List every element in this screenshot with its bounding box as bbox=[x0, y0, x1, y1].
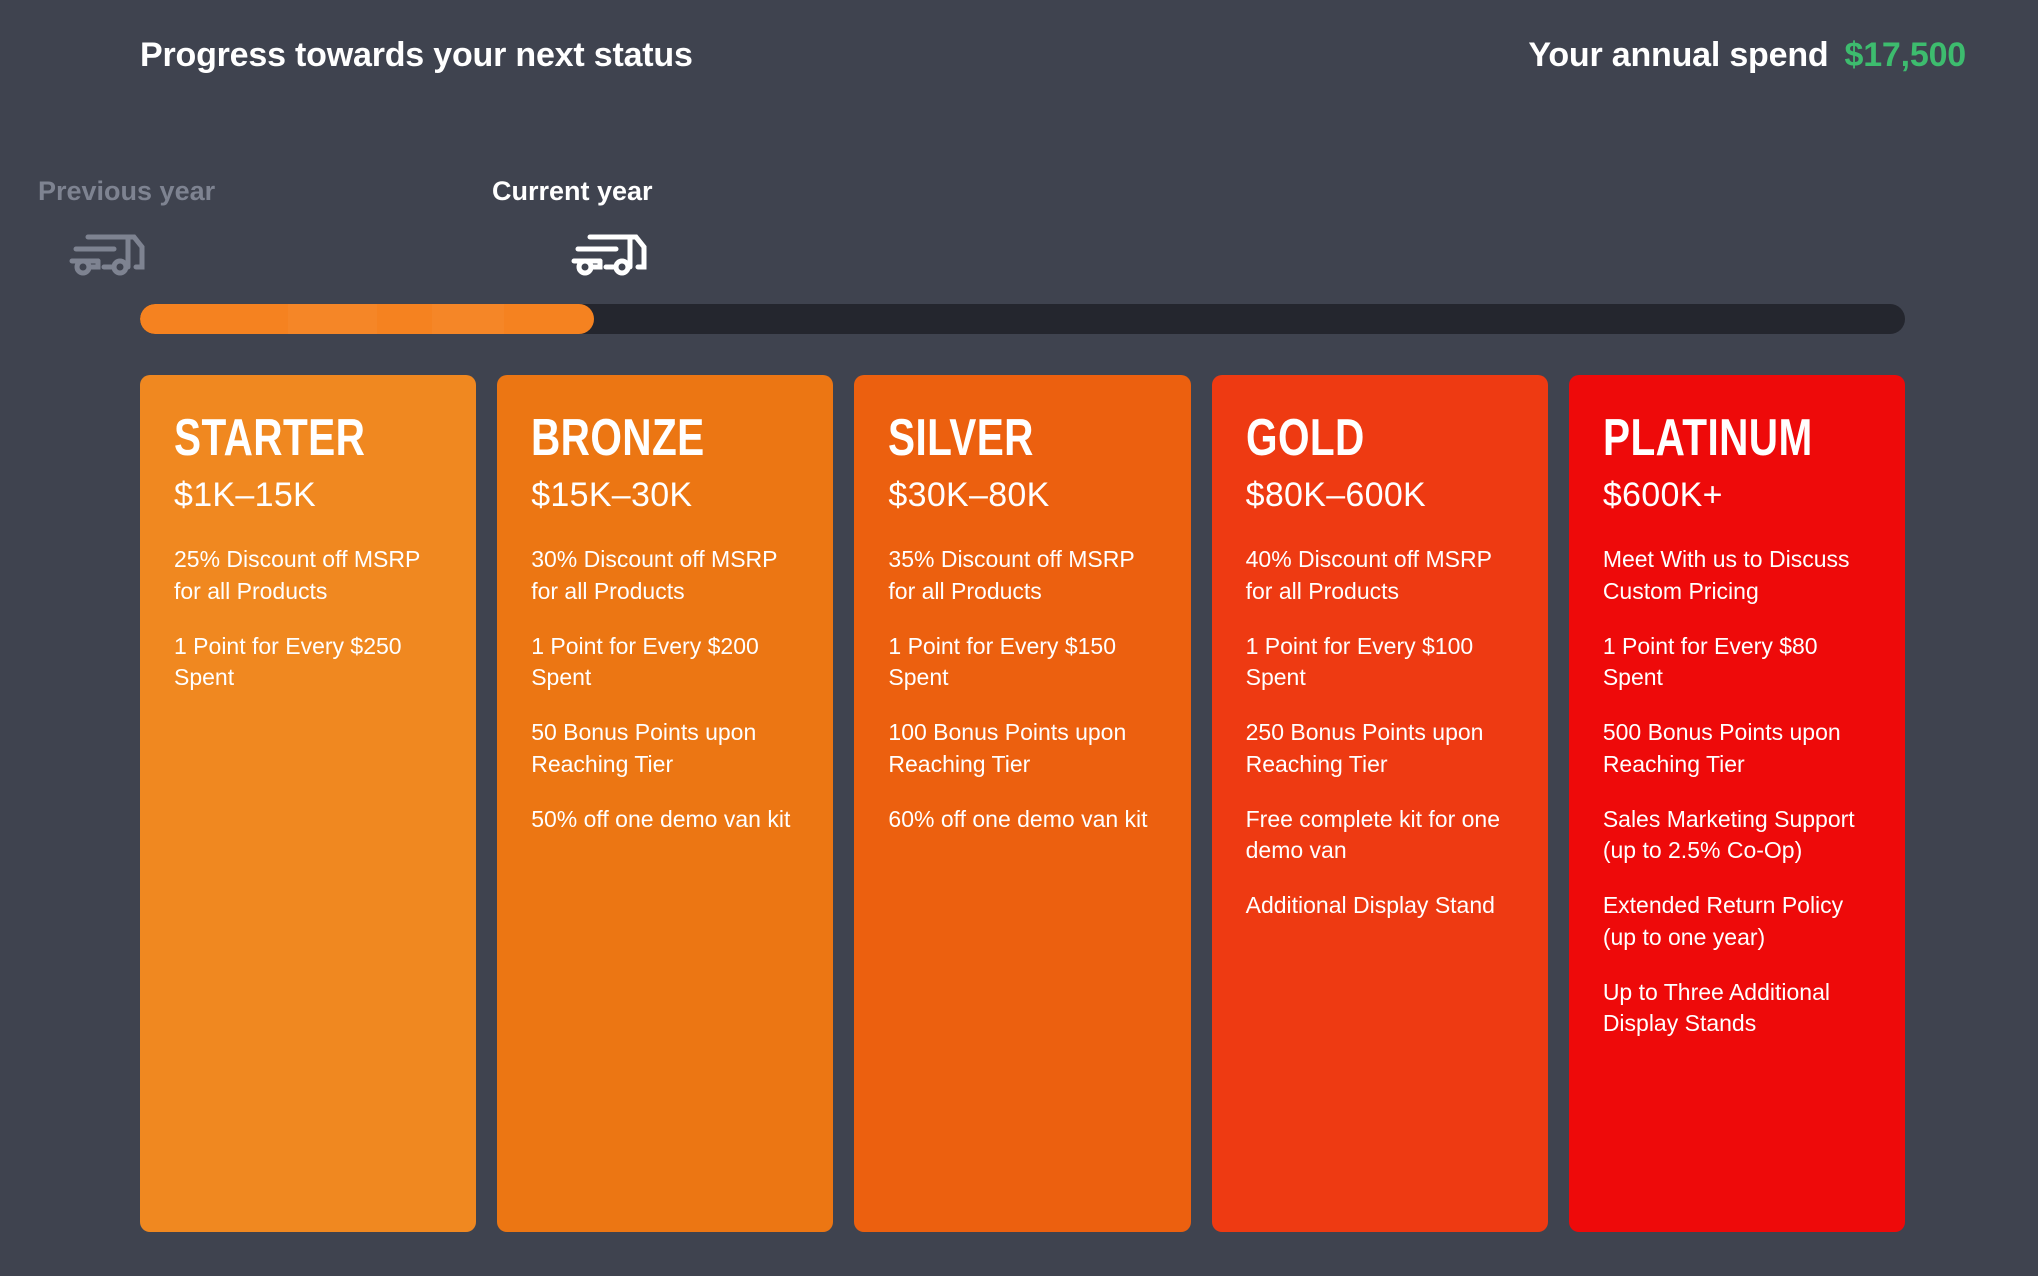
tier-card[interactable]: STARTER$1K–15K25% Discount off MSRP for … bbox=[140, 375, 476, 1232]
progress-segment bbox=[289, 304, 377, 334]
tier-name: SILVER bbox=[888, 415, 1097, 463]
page-title: Progress towards your next status bbox=[140, 38, 693, 72]
tier-benefit: 1 Point for Every $100 Spent bbox=[1246, 631, 1514, 694]
tier-benefit: 40% Discount off MSRP for all Products bbox=[1246, 544, 1514, 607]
delivery-truck-icon bbox=[570, 227, 648, 279]
tier-benefit-list: Meet With us to Discuss Custom Pricing1 … bbox=[1603, 544, 1871, 1040]
tier-benefit: 1 Point for Every $80 Spent bbox=[1603, 631, 1871, 694]
tier-benefit: 25% Discount off MSRP for all Products bbox=[174, 544, 442, 607]
current-year-marker: Current year bbox=[492, 178, 653, 279]
progress-bar-track[interactable] bbox=[140, 304, 1905, 334]
previous-year-marker: Previous year bbox=[38, 178, 215, 279]
tier-benefit: Up to Three Additional Display Stands bbox=[1603, 977, 1871, 1040]
tier-benefit: 1 Point for Every $250 Spent bbox=[174, 631, 442, 694]
tier-spend-range: $80K–600K bbox=[1246, 477, 1514, 514]
tier-name: STARTER bbox=[174, 415, 383, 463]
tier-benefit: Free complete kit for one demo van bbox=[1246, 804, 1514, 867]
tier-benefit: 30% Discount off MSRP for all Products bbox=[531, 544, 799, 607]
tier-benefit: 60% off one demo van kit bbox=[888, 804, 1156, 836]
tier-benefit: 1 Point for Every $150 Spent bbox=[888, 631, 1156, 694]
current-year-label: Current year bbox=[492, 178, 653, 205]
tier-spend-range: $600K+ bbox=[1603, 477, 1871, 514]
tier-benefit-list: 30% Discount off MSRP for all Products1 … bbox=[531, 544, 799, 835]
previous-year-label: Previous year bbox=[38, 178, 215, 205]
tier-benefit: Meet With us to Discuss Custom Pricing bbox=[1603, 544, 1871, 607]
tier-benefit: Additional Display Stand bbox=[1246, 890, 1514, 922]
tier-name: GOLD bbox=[1246, 415, 1455, 463]
tier-name: BRONZE bbox=[531, 415, 740, 463]
tier-name: PLATINUM bbox=[1603, 415, 1812, 463]
progress-bar-fill bbox=[140, 304, 594, 334]
tier-benefit: Sales Marketing Support (up to 2.5% Co-O… bbox=[1603, 804, 1871, 867]
annual-spend-label: Your annual spend bbox=[1528, 36, 1828, 75]
tier-benefit-list: 25% Discount off MSRP for all Products1 … bbox=[174, 544, 442, 694]
tier-benefit: 1 Point for Every $200 Spent bbox=[531, 631, 799, 694]
tier-benefit-list: 40% Discount off MSRP for all Products1 … bbox=[1246, 544, 1514, 922]
tier-spend-range: $1K–15K bbox=[174, 477, 442, 514]
tier-spend-range: $15K–30K bbox=[531, 477, 799, 514]
annual-spend-value: $17,500 bbox=[1844, 36, 1966, 75]
delivery-truck-icon bbox=[68, 227, 146, 279]
tier-card[interactable]: GOLD$80K–600K40% Discount off MSRP for a… bbox=[1212, 375, 1548, 1232]
tier-card[interactable]: BRONZE$15K–30K30% Discount off MSRP for … bbox=[497, 375, 833, 1232]
tier-benefit: Extended Return Policy (up to one year) bbox=[1603, 890, 1871, 953]
progress-segment bbox=[432, 304, 504, 334]
tier-card-list: STARTER$1K–15K25% Discount off MSRP for … bbox=[140, 375, 1905, 1232]
tier-benefit: 50 Bonus Points upon Reaching Tier bbox=[531, 717, 799, 780]
tier-spend-range: $30K–80K bbox=[888, 477, 1156, 514]
tier-benefit: 35% Discount off MSRP for all Products bbox=[888, 544, 1156, 607]
tier-benefit: 500 Bonus Points upon Reaching Tier bbox=[1603, 717, 1871, 780]
tier-benefit-list: 35% Discount off MSRP for all Products1 … bbox=[888, 544, 1156, 835]
page-header: Progress towards your next status Your a… bbox=[0, 0, 2038, 110]
tier-benefit: 50% off one demo van kit bbox=[531, 804, 799, 836]
tier-benefit: 250 Bonus Points upon Reaching Tier bbox=[1246, 717, 1514, 780]
year-markers: Previous year Current year bbox=[0, 178, 2038, 288]
tier-card[interactable]: SILVER$30K–80K35% Discount off MSRP for … bbox=[854, 375, 1190, 1232]
tier-benefit: 100 Bonus Points upon Reaching Tier bbox=[888, 717, 1156, 780]
annual-spend-summary: Your annual spend $17,500 bbox=[1528, 36, 1966, 75]
tier-card[interactable]: PLATINUM$600K+Meet With us to Discuss Cu… bbox=[1569, 375, 1905, 1232]
